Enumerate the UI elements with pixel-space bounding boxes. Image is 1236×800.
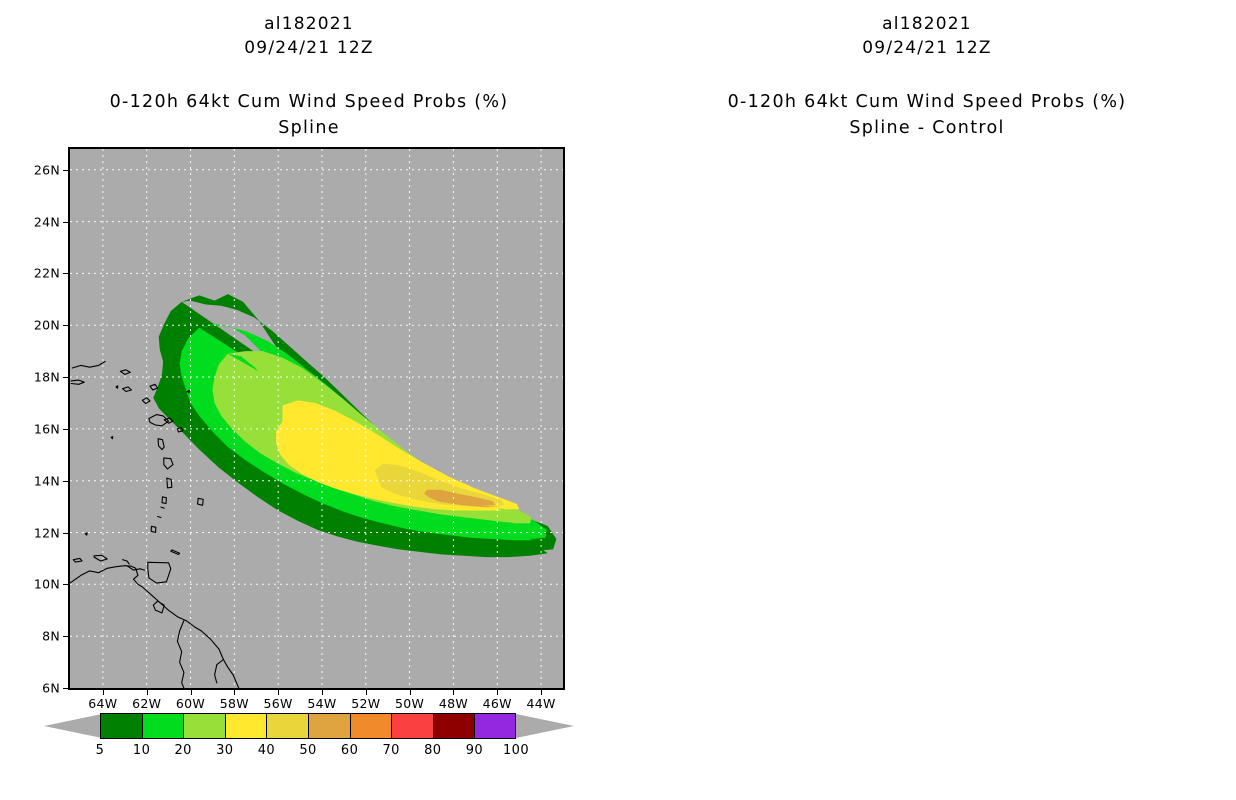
x-tick-label: 56W (258, 696, 298, 711)
map-area-spline[interactable] (68, 147, 565, 690)
y-tick-label: 20N (20, 318, 60, 333)
x-tick-label: 54W (302, 696, 342, 711)
panel-spline: al182021 09/24/21 12Z 0-120h 64kt Cum Wi… (0, 0, 618, 800)
x-tick-mark (147, 690, 148, 695)
y-tick-label: 22N (20, 266, 60, 281)
y-tick-label: 26N (20, 162, 60, 177)
x-tick-label: 64W (83, 696, 123, 711)
colorbar-swatch[interactable] (350, 713, 392, 739)
x-tick-mark (278, 690, 279, 695)
colorbar-tick-label: 60 (327, 743, 373, 758)
colorbar-tick-label: 90 (451, 743, 497, 758)
panel-right-subtitle: Spline - Control (618, 118, 1236, 138)
colorbar-tick-label: 5 (77, 743, 123, 758)
x-tick-mark (366, 690, 367, 695)
y-tick-label: 16N (20, 421, 60, 436)
x-tick-mark (103, 690, 104, 695)
x-tick-mark (191, 690, 192, 695)
x-tick-label: 48W (433, 696, 473, 711)
colorbar-swatch[interactable] (142, 713, 184, 739)
colorbar-tick-label: 80 (410, 743, 456, 758)
x-tick-mark (541, 690, 542, 695)
y-tick-label: 8N (20, 629, 60, 644)
y-tick-label: 18N (20, 370, 60, 385)
colorbar-tick-label: 50 (285, 743, 331, 758)
colorbar-swatch[interactable] (183, 713, 225, 739)
y-tick-mark (63, 584, 68, 585)
y-tick-mark (63, 533, 68, 534)
x-tick-label: 62W (127, 696, 167, 711)
figure-root: al182021 09/24/21 12Z 0-120h 64kt Cum Wi… (0, 0, 1236, 800)
y-tick-label: 14N (20, 473, 60, 488)
colorbar-tick-label: 20 (160, 743, 206, 758)
colorbar-tick-label: 30 (202, 743, 248, 758)
colorbar-tick-label: 100 (493, 743, 539, 758)
x-tick-mark (322, 690, 323, 695)
y-tick-mark (63, 481, 68, 482)
colorbar-swatch[interactable] (225, 713, 267, 739)
map-canvas-spline (70, 149, 563, 688)
y-tick-label: 6N (20, 681, 60, 696)
colorbar-swatch[interactable] (391, 713, 433, 739)
y-tick-mark (63, 377, 68, 378)
colorbar-high-arrow (516, 713, 576, 739)
x-tick-label: 60W (171, 696, 211, 711)
colorbar-swatch[interactable] (266, 713, 308, 739)
panel-left-title: 0-120h 64kt Cum Wind Speed Probs (%) (0, 92, 618, 112)
y-tick-mark (63, 688, 68, 689)
x-tick-mark (234, 690, 235, 695)
colorbar-tick-label: 70 (368, 743, 414, 758)
colorbar-swatch[interactable] (474, 713, 516, 739)
colorbar-probability[interactable]: 5102030405060708090100 (48, 713, 568, 783)
colorbar-swatch[interactable] (100, 713, 142, 739)
y-tick-label: 24N (20, 214, 60, 229)
colorbar-swatch[interactable] (433, 713, 475, 739)
x-tick-mark (410, 690, 411, 695)
x-tick-label: 44W (521, 696, 561, 711)
x-tick-label: 52W (346, 696, 386, 711)
panel-right-datetime: 09/24/21 12Z (618, 38, 1236, 58)
panel-spline-minus-control: al182021 09/24/21 12Z 0-120h 64kt Cum Wi… (618, 0, 1236, 800)
y-tick-label: 10N (20, 577, 60, 592)
panel-right-title: 0-120h 64kt Cum Wind Speed Probs (%) (618, 92, 1236, 112)
colorbar-tick-label: 40 (243, 743, 289, 758)
y-tick-mark (63, 325, 68, 326)
x-tick-label: 46W (477, 696, 517, 711)
colorbar-low-arrow (44, 713, 104, 739)
y-tick-label: 12N (20, 525, 60, 540)
y-tick-mark (63, 273, 68, 274)
y-tick-mark (63, 170, 68, 171)
panel-right-storm-id: al182021 (618, 14, 1236, 34)
panel-left-storm-id: al182021 (0, 14, 618, 34)
y-tick-mark (63, 429, 68, 430)
y-tick-mark (63, 636, 68, 637)
x-tick-mark (497, 690, 498, 695)
panel-left-subtitle: Spline (0, 118, 618, 138)
colorbar-tick-label: 10 (119, 743, 165, 758)
x-tick-label: 50W (390, 696, 430, 711)
x-tick-mark (453, 690, 454, 695)
y-tick-mark (63, 222, 68, 223)
x-tick-label: 58W (214, 696, 254, 711)
panel-left-datetime: 09/24/21 12Z (0, 38, 618, 58)
colorbar-swatch[interactable] (308, 713, 350, 739)
